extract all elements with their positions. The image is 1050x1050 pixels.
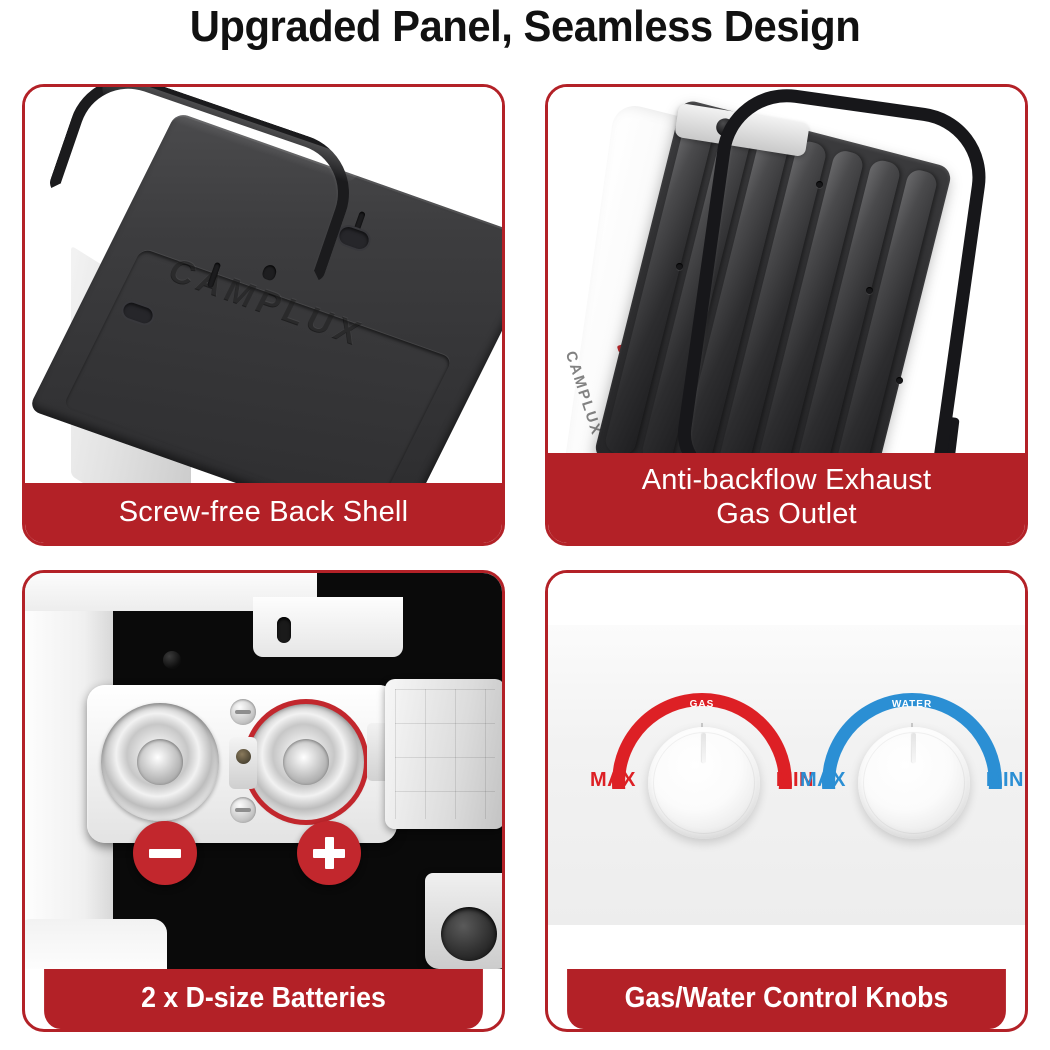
gas-knob-group: GAS MAX MIN — [596, 693, 808, 883]
feature-card-gas-water-control-knobs: GAS MAX MIN WATER MAX MIN — [545, 570, 1028, 1032]
center-post — [229, 737, 257, 789]
screw-hole-icon — [676, 263, 683, 270]
feature-card-screw-free-back-shell: CAMPLUX Screw-free Back Shell — [22, 84, 505, 546]
feature-card-anti-backflow-exhaust-gas-outlet: CAMPLUX — [545, 84, 1028, 546]
water-min-label: MIN — [986, 769, 1024, 792]
water-knob-pointer — [912, 733, 916, 763]
plus-badge-icon — [297, 821, 361, 885]
screw-hole-icon — [277, 617, 291, 643]
control-panel-image: GAS MAX MIN WATER MAX MIN — [548, 573, 1025, 969]
unit-bracket-notch — [253, 597, 403, 657]
water-knob-group: WATER MAX MIN — [806, 693, 1018, 883]
carry-handle — [671, 87, 994, 453]
back-shell-image: CAMPLUX — [25, 87, 502, 483]
positive-ring-marker — [243, 699, 369, 825]
card-caption-line-1: Anti-backflow Exhaust — [558, 463, 1015, 497]
minus-badge-icon — [133, 821, 197, 885]
page-title: Upgraded Panel, Seamless Design — [26, 0, 1024, 62]
feature-card-d-size-batteries: 2 x D-size Batteries — [22, 570, 505, 1032]
battery-door — [385, 679, 502, 829]
water-inlet-filter — [425, 873, 502, 969]
card-caption-line-2: Gas Outlet — [558, 497, 1015, 531]
card-caption: 2 x D-size Batteries — [44, 969, 483, 1029]
gas-knob-pointer — [702, 733, 706, 763]
card-caption: Anti-backflow Exhaust Gas Outlet — [548, 453, 1025, 543]
water-arc-label: WATER — [806, 699, 1018, 710]
card-caption: Gas/Water Control Knobs — [567, 969, 1006, 1029]
battery-holder — [87, 685, 397, 843]
feature-card-grid: CAMPLUX Screw-free Back Shell CAMPLUX — [22, 84, 1028, 1032]
battery-compartment-image — [25, 573, 502, 969]
exhaust-outlet-image: CAMPLUX — [548, 87, 1025, 453]
screw-icon — [163, 651, 181, 669]
battery-terminal-negative — [101, 703, 219, 821]
gas-arc-label: GAS — [596, 699, 808, 710]
gas-max-label: MAX — [590, 769, 636, 792]
screw-icon — [230, 699, 256, 725]
water-max-label: MAX — [800, 769, 846, 792]
water-control-knob[interactable] — [858, 727, 970, 839]
infographic-page: Upgraded Panel, Seamless Design CAMPLUX — [0, 0, 1050, 1050]
gas-control-knob[interactable] — [648, 727, 760, 839]
card-caption: Screw-free Back Shell — [25, 483, 502, 543]
unit-bottom-panel — [25, 919, 167, 969]
screw-icon — [230, 797, 256, 823]
